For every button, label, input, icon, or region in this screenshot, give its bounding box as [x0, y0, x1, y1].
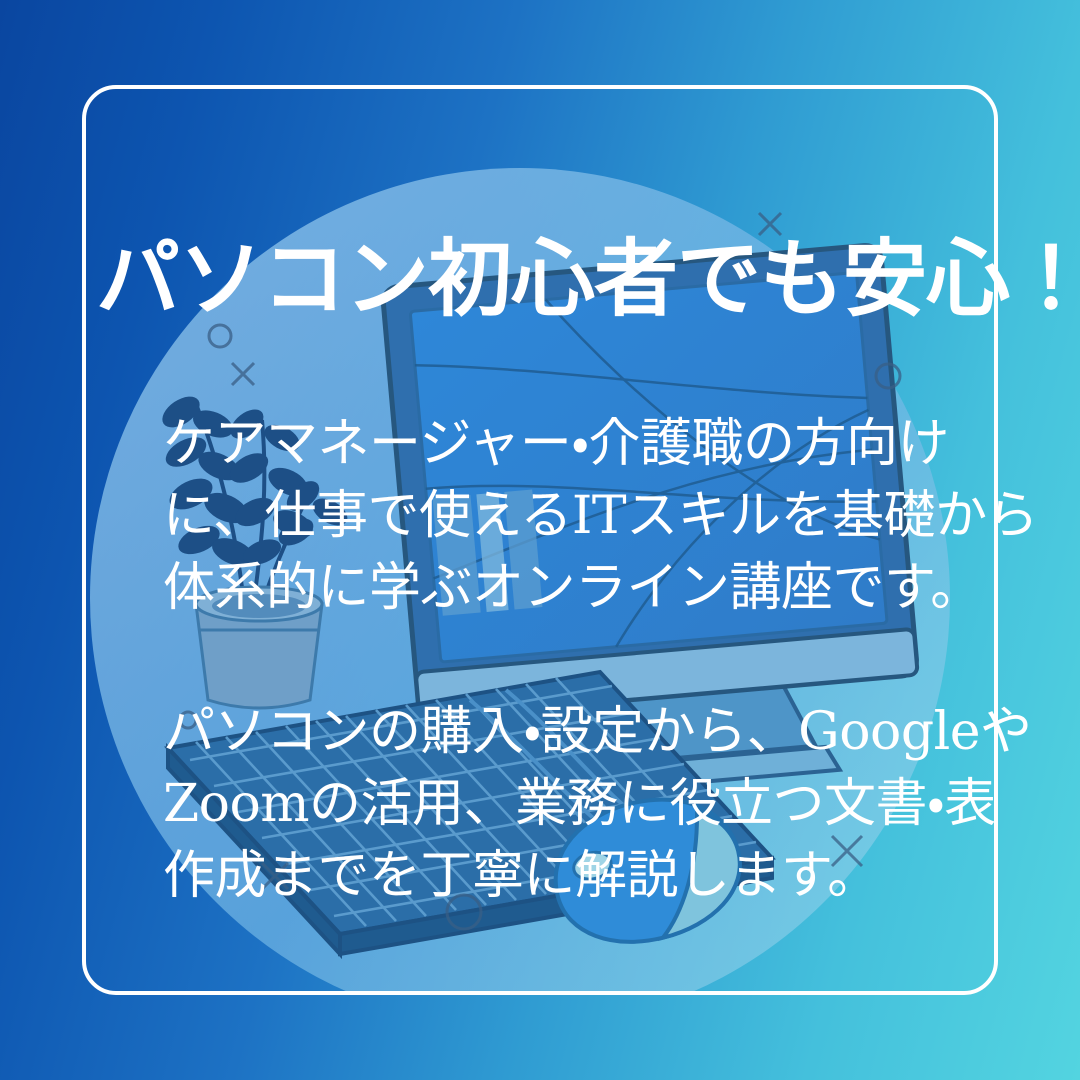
paragraph-curriculum: パソコンの購入・設定から、Googleや Zoomの活用、業務に役立つ文書・表 …: [163, 696, 953, 912]
poster-content: パソコン初心者でも安心！ ケアマネージャー・介護職の方向け に、仕事で使えるIT…: [0, 0, 1080, 1080]
paragraph-line: ケアマネージャー・介護職の方向け: [163, 408, 953, 480]
page-title: パソコン初心者でも安心！: [96, 237, 996, 323]
paragraph-line: に、仕事で使えるITスキルを基礎から: [163, 480, 953, 552]
paragraph-intro: ケアマネージャー・介護職の方向け に、仕事で使えるITスキルを基礎から 体系的に…: [163, 408, 953, 624]
paragraph-line: 体系的に学ぶオンライン講座です。: [163, 552, 953, 624]
poster-canvas: パソコン初心者でも安心！ ケアマネージャー・介護職の方向け に、仕事で使えるIT…: [0, 0, 1080, 1080]
paragraph-line: パソコンの購入・設定から、Googleや: [163, 696, 953, 768]
paragraph-line: Zoomの活用、業務に役立つ文書・表: [163, 768, 953, 840]
paragraph-line: 作成までを丁寧に解説します。: [163, 840, 953, 912]
